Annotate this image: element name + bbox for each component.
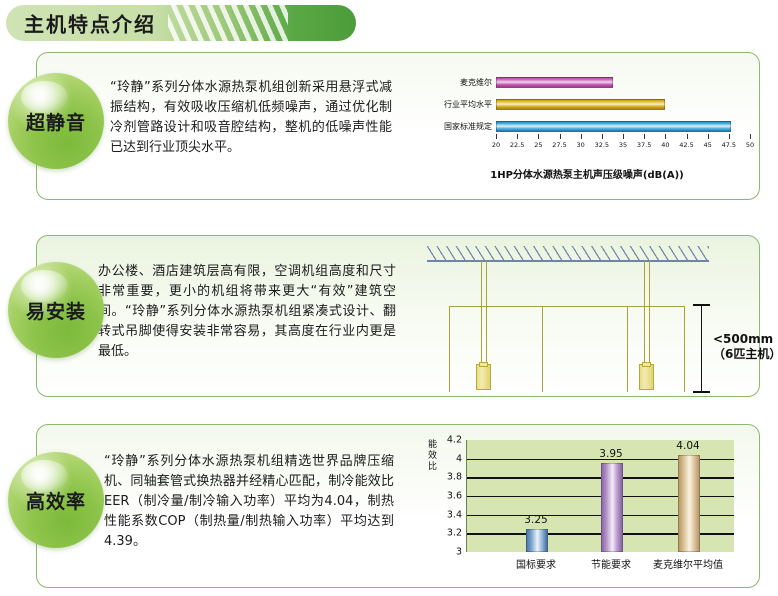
axis-tick bbox=[687, 134, 688, 139]
unit-divider-left bbox=[542, 306, 543, 392]
axis-tick-label: 40 bbox=[661, 141, 669, 149]
axis-tick-label: 47.5 bbox=[722, 141, 736, 149]
axis-tick bbox=[708, 134, 709, 139]
feature-badge-quiet: 超静音 bbox=[8, 73, 104, 169]
noise-bar-row: 国家标准规定 bbox=[418, 120, 731, 133]
installation-diagram: <500mm （6匹主机） bbox=[405, 240, 755, 392]
axis-tick bbox=[602, 134, 603, 139]
feature-badge-easy-install: 易安装 bbox=[8, 262, 104, 358]
efficiency-column bbox=[678, 455, 700, 552]
axis-tick bbox=[644, 134, 645, 139]
efficiency-category-label: 国标要求 bbox=[516, 556, 556, 571]
mounting-foot-cap-left bbox=[479, 362, 488, 367]
efficiency-category-label: 节能要求 bbox=[591, 556, 631, 571]
dimension-cap-bottom bbox=[693, 391, 710, 393]
y-axis-tick-label: 3.2 bbox=[447, 528, 462, 539]
noise-bar bbox=[496, 121, 731, 132]
axis-tick bbox=[560, 134, 561, 139]
noise-bar-chart: 麦克维尔行业平均水平国家标准规定 2022.52527.53032.53537.… bbox=[418, 62, 756, 180]
axis-tick bbox=[623, 134, 624, 139]
axis-tick-label: 20 bbox=[492, 141, 500, 149]
feature-text-easy-install: 办公楼、酒店建筑层高有限，空调机组高度和尺寸非常重要，更小的机组将带来更大“有效… bbox=[98, 262, 396, 362]
noise-bar-category-label: 麦克维尔 bbox=[418, 77, 496, 88]
efficiency-value-label: 4.04 bbox=[676, 440, 699, 452]
dimension-line bbox=[701, 304, 702, 392]
y-axis-tick-label: 4.2 bbox=[447, 435, 462, 446]
efficiency-value-label: 3.25 bbox=[524, 514, 547, 526]
efficiency-column-chart: 能效比 33.23.43.63.844.2 3.253.954.04 国标要求节… bbox=[424, 432, 754, 584]
axis-tick-label: 42.5 bbox=[679, 141, 693, 149]
page-header-banner: 主机特点介绍 bbox=[6, 5, 356, 41]
y-axis-tick-label: 4 bbox=[456, 453, 462, 464]
ceiling-hatch-icon bbox=[427, 246, 709, 260]
axis-tick bbox=[538, 134, 539, 139]
axis-tick-label: 30 bbox=[577, 141, 585, 149]
dimension-value: <500mm bbox=[713, 332, 778, 347]
feature-text-efficiency: “玲静”系列分体水源热泵机组精选世界品牌压缩机、同轴套管式换热器并经精心匹配，制… bbox=[104, 452, 394, 552]
axis-tick-label: 32.5 bbox=[595, 141, 609, 149]
feature-badge-label: 高效率 bbox=[26, 487, 86, 514]
axis-tick-label: 27.5 bbox=[552, 141, 566, 149]
axis-tick bbox=[750, 134, 751, 139]
axis-tick bbox=[496, 134, 497, 139]
ceiling-line bbox=[427, 260, 709, 262]
noise-bar bbox=[496, 77, 613, 88]
axis-tick bbox=[517, 134, 518, 139]
y-axis-tick-label: 3.6 bbox=[447, 491, 462, 502]
feature-badge-label: 易安装 bbox=[26, 297, 86, 324]
mounting-foot-right bbox=[639, 364, 654, 390]
noise-bar bbox=[496, 99, 665, 110]
dimension-note: （6匹主机） bbox=[713, 347, 778, 362]
efficiency-column bbox=[601, 463, 623, 552]
mounting-foot-left bbox=[476, 364, 491, 390]
efficiency-chart-category-labels: 国标要求节能要求麦克维尔平均值 bbox=[466, 556, 734, 574]
axis-tick-label: 50 bbox=[746, 141, 754, 149]
dimension-label: <500mm （6匹主机） bbox=[713, 332, 778, 362]
axis-tick-label: 45 bbox=[704, 141, 712, 149]
noise-bar-chart-x-axis-title: 1HP分体水源热泵主机声压级噪声(dB(A)) bbox=[418, 166, 756, 181]
feature-badge-efficiency: 高效率 bbox=[8, 452, 104, 548]
efficiency-category-label: 麦克维尔平均值 bbox=[653, 556, 723, 571]
axis-tick bbox=[729, 134, 730, 139]
efficiency-column bbox=[526, 529, 548, 552]
feature-text-quiet: “玲静”系列分体水源热泵机组创新采用悬浮式减振结构，有效吸收压缩机低频噪声，通过… bbox=[110, 78, 392, 158]
axis-tick-label: 25 bbox=[534, 141, 542, 149]
feature-badge-label: 超静音 bbox=[26, 108, 86, 135]
axis-tick bbox=[665, 134, 666, 139]
noise-bar-row: 麦克维尔 bbox=[418, 76, 613, 89]
y-axis-tick-label: 3.4 bbox=[447, 509, 462, 520]
mounting-foot-cap-right bbox=[642, 362, 651, 367]
axis-tick bbox=[581, 134, 582, 139]
y-axis-tick-label: 3.8 bbox=[447, 472, 462, 483]
efficiency-chart-y-axis-labels: 33.23.43.63.844.2 bbox=[424, 440, 462, 552]
y-axis-tick-label: 3 bbox=[456, 547, 462, 558]
slide-root: 主机特点介绍 超静音 “玲静”系列分体水源热泵机组创新采用悬浮式减振结构，有效吸… bbox=[0, 0, 778, 596]
axis-tick-label: 22.5 bbox=[510, 141, 524, 149]
unit-divider-right bbox=[627, 306, 628, 392]
dimension-cap-top bbox=[693, 304, 710, 306]
noise-bar-chart-x-axis: 2022.52527.53032.53537.54042.54547.550 bbox=[496, 134, 750, 164]
axis-tick-label: 35 bbox=[619, 141, 627, 149]
page-title: 主机特点介绍 bbox=[24, 9, 156, 38]
banner-stripes-decoration bbox=[168, 5, 288, 41]
noise-bar-category-label: 国家标准规定 bbox=[418, 121, 496, 132]
efficiency-value-label: 3.95 bbox=[599, 448, 622, 460]
axis-tick-label: 37.5 bbox=[637, 141, 651, 149]
noise-bar-row: 行业平均水平 bbox=[418, 98, 665, 111]
noise-bar-category-label: 行业平均水平 bbox=[418, 99, 496, 110]
